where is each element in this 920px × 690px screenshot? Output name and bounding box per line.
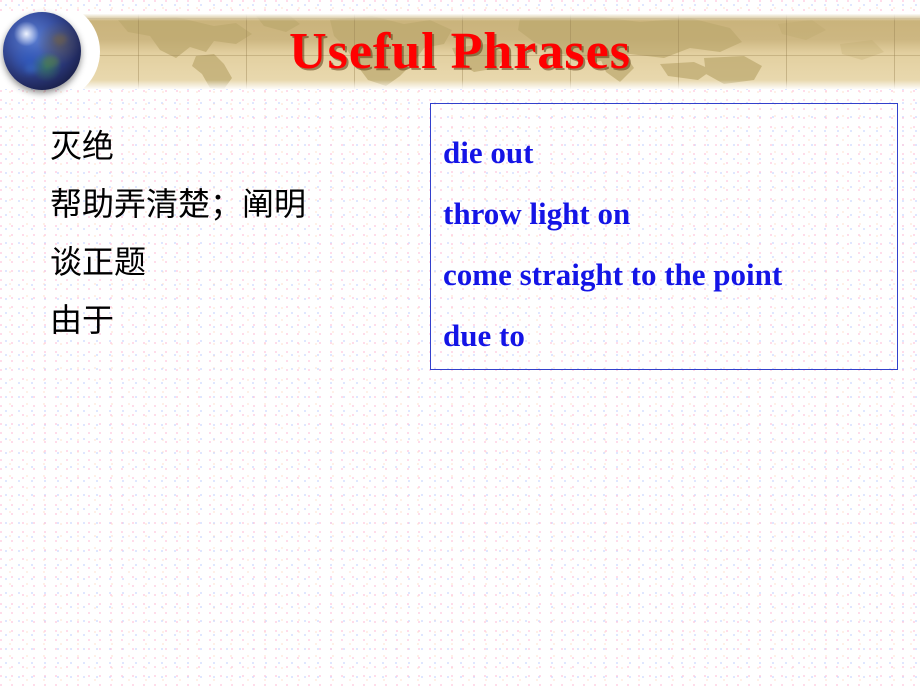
list-item: 谈正题: [50, 233, 420, 291]
list-item: due to: [443, 305, 903, 366]
chinese-meaning-list: 灭绝 帮助弄清楚；阐明 谈正题 由于: [50, 117, 420, 349]
list-item: 灭绝: [50, 117, 420, 175]
list-item: come straight to the point: [443, 244, 903, 305]
page-title: Useful Phrases: [0, 24, 920, 80]
english-phrase-list: die out throw light on come straight to …: [443, 122, 903, 366]
slide-canvas: Useful Phrases 灭绝 帮助弄清楚；阐明 谈正题 由于 die ou…: [0, 0, 920, 690]
list-item: throw light on: [443, 183, 903, 244]
list-item: die out: [443, 122, 903, 183]
banner-bottom-fade: [0, 80, 920, 89]
banner-top-fade: [0, 14, 920, 21]
list-item: 帮助弄清楚；阐明: [50, 175, 420, 233]
list-item: 由于: [50, 291, 420, 349]
